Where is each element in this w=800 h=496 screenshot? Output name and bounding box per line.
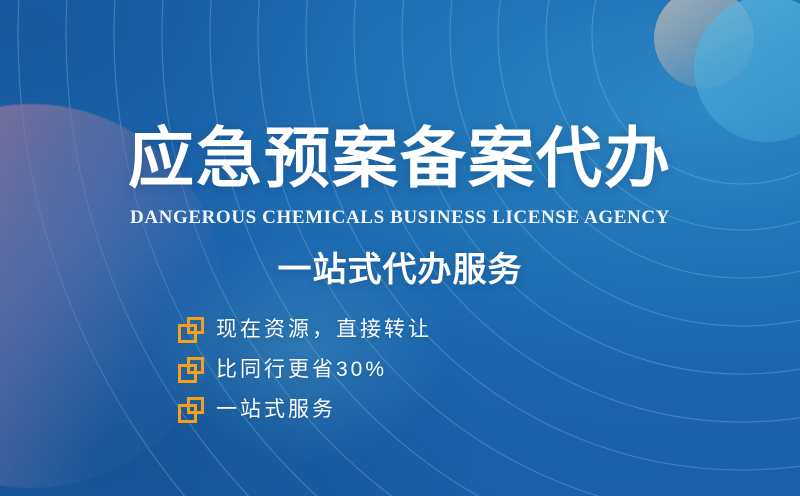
overlapping-squares-icon [178, 317, 204, 343]
banner-title-cn: 应急预案备案代办 [0, 122, 800, 194]
list-item: 现在资源，直接转让 [178, 316, 432, 344]
feature-label: 一站式服务 [216, 396, 336, 424]
overlapping-squares-icon [178, 357, 204, 383]
banner-content: 应急预案备案代办 DANGEROUS CHEMICALS BUSINESS LI… [0, 0, 800, 496]
feature-list: 现在资源，直接转让 比同行更省30% 一站式服务 [178, 316, 432, 424]
feature-label: 现在资源，直接转让 [216, 316, 432, 344]
banner-subtitle-cn: 一站式代办服务 [0, 248, 800, 292]
feature-label: 比同行更省30% [216, 356, 387, 384]
list-item: 比同行更省30% [178, 356, 432, 384]
banner-title-en: DANGEROUS CHEMICALS BUSINESS LICENSE AGE… [0, 206, 800, 230]
overlapping-squares-icon [178, 397, 204, 423]
promo-banner: 应急预案备案代办 DANGEROUS CHEMICALS BUSINESS LI… [0, 0, 800, 496]
list-item: 一站式服务 [178, 396, 432, 424]
